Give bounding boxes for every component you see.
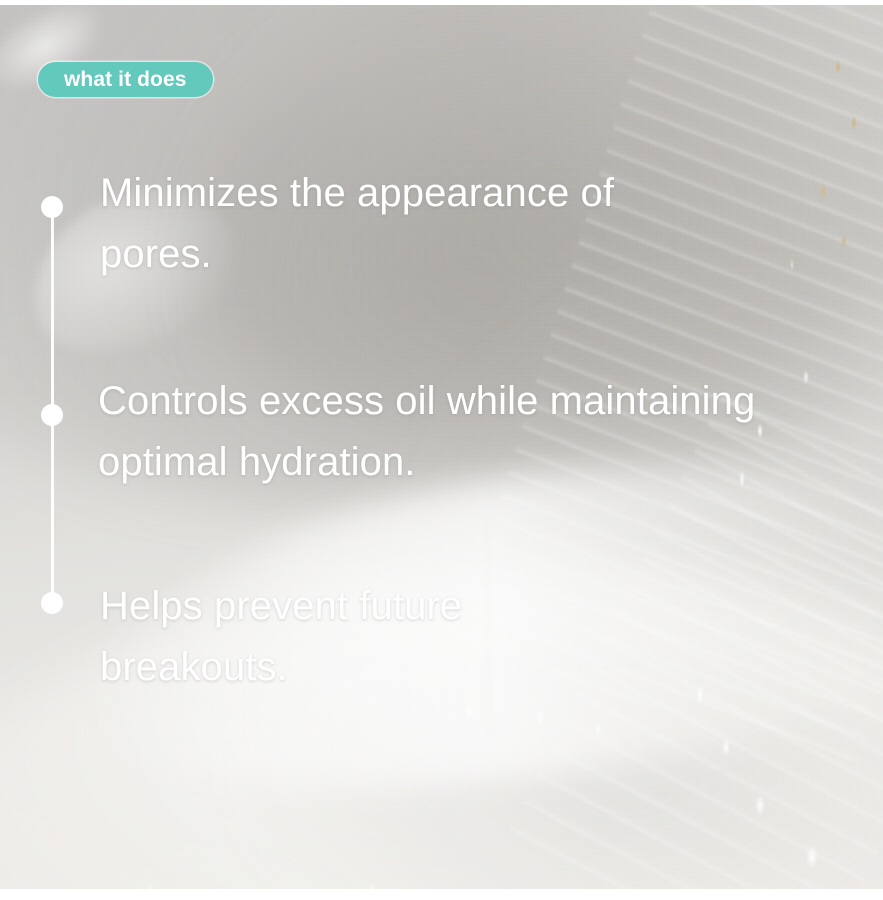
timeline-dot-1: [41, 196, 63, 218]
benefit-item-breakouts: Helps prevent future breakouts.: [100, 576, 620, 698]
content-overlay: what it does Minimizes the appearance of…: [0, 0, 883, 900]
timeline-dot-3: [41, 592, 63, 614]
benefit-item-pores: Minimizes the appearance of pores.: [100, 163, 620, 285]
slide-canvas: what it does Minimizes the appearance of…: [0, 0, 883, 900]
section-badge: what it does: [38, 62, 213, 97]
timeline-dot-2: [41, 404, 63, 426]
benefit-item-oil: Controls excess oil while maintaining op…: [98, 371, 798, 493]
